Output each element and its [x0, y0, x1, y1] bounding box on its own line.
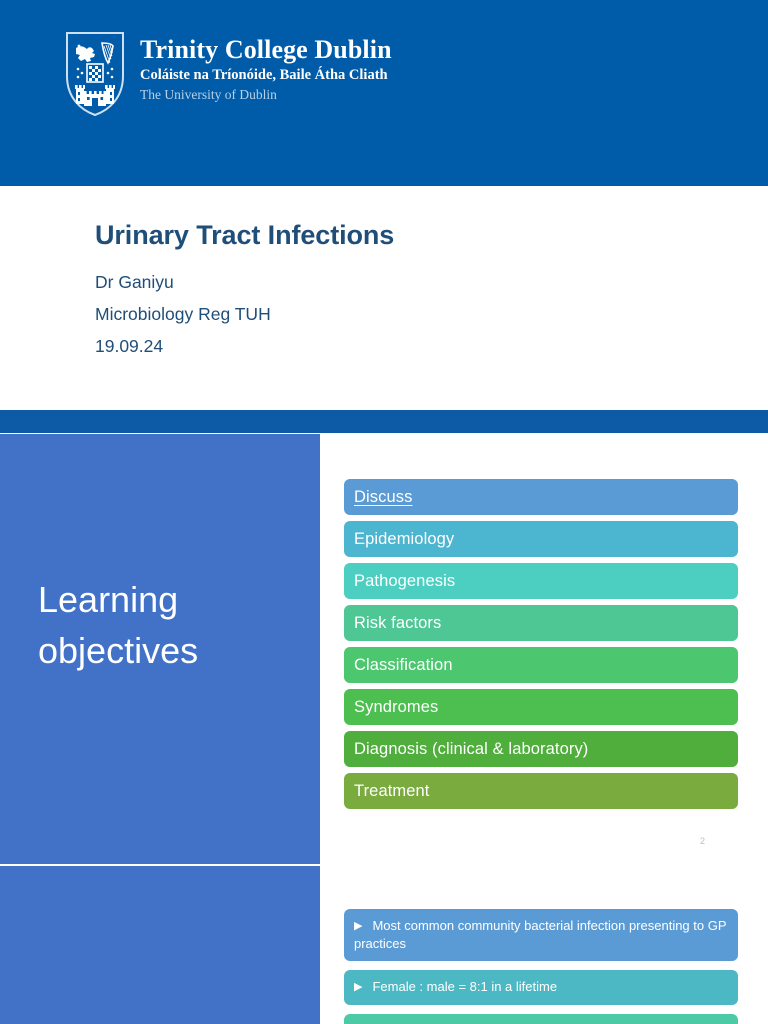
epidemiology-fact[interactable]: ▶Female : male = 8:1 in a lifetime — [344, 970, 738, 1005]
objective-bar[interactable]: Risk factors — [344, 605, 738, 641]
epidemiology-left-panel — [0, 866, 320, 1024]
objective-bar[interactable]: Epidemiology — [344, 521, 738, 557]
objective-bar[interactable]: Treatment — [344, 773, 738, 809]
trinity-college-crest-icon — [64, 30, 126, 118]
trinity-logo-text: Trinity College Dublin Coláiste na Tríon… — [140, 30, 392, 104]
objective-bar[interactable]: Diagnosis (clinical & laboratory) — [344, 731, 738, 767]
epidemiology-fact[interactable]: ▶Approx 50-60% of women report at least … — [344, 1014, 738, 1024]
org-tagline: The University of Dublin — [140, 87, 392, 104]
objective-bar-label: Epidemiology — [354, 530, 454, 549]
slide-divider-strip — [0, 410, 768, 433]
objectives-heading-line1: Learning — [38, 574, 198, 625]
brand-header-band: Trinity College Dublin Coláiste na Tríon… — [0, 0, 768, 186]
org-name-irish: Coláiste na Tríonóide, Baile Átha Cliath — [140, 66, 392, 84]
presenter-name: Dr Ganiyu — [95, 266, 271, 298]
presentation-date: 19.09.24 — [95, 330, 271, 362]
objective-bar[interactable]: Discuss — [344, 479, 738, 515]
slide-page: Trinity College Dublin Coláiste na Tríon… — [0, 0, 768, 1024]
presenter-affiliation: Microbiology Reg TUH — [95, 298, 271, 330]
title-slide-meta: Dr Ganiyu Microbiology Reg TUH 19.09.24 — [95, 266, 271, 362]
objectives-bar-list: DiscussEpidemiologyPathogenesisRisk fact… — [344, 479, 738, 815]
epidemiology-fact[interactable]: ▶Most common community bacterial infecti… — [344, 909, 738, 961]
slide-number: 2 — [700, 836, 705, 846]
page-title: Urinary Tract Infections — [95, 220, 394, 251]
epidemiology-fact-list: ▶Most common community bacterial infecti… — [344, 909, 738, 1024]
objective-bar-label: Treatment — [354, 782, 429, 801]
objectives-left-panel: Learning objectives — [0, 434, 320, 864]
objectives-heading: Learning objectives — [38, 574, 198, 676]
objective-bar-label: Diagnosis (clinical & laboratory) — [354, 740, 588, 759]
triangle-bullet-icon: ▶ — [354, 981, 362, 993]
org-name: Trinity College Dublin — [140, 36, 392, 63]
objective-bar-label: Pathogenesis — [354, 572, 455, 591]
trinity-logo: Trinity College Dublin Coláiste na Tríon… — [64, 30, 392, 118]
objective-bar[interactable]: Syndromes — [344, 689, 738, 725]
objective-bar-label: Syndromes — [354, 698, 438, 717]
objectives-heading-line2: objectives — [38, 625, 198, 676]
objective-bar[interactable]: Classification — [344, 647, 738, 683]
objective-bar-label: Classification — [354, 656, 453, 675]
objective-bar-label: Risk factors — [354, 614, 441, 633]
objective-bar-label: Discuss — [354, 488, 412, 507]
epidemiology-fact-text: Most common community bacterial infectio… — [354, 918, 726, 951]
epidemiology-fact-text: Female : male = 8:1 in a lifetime — [372, 979, 557, 994]
objective-bar[interactable]: Pathogenesis — [344, 563, 738, 599]
triangle-bullet-icon: ▶ — [354, 920, 362, 932]
title-slide-body: Urinary Tract Infections Dr Ganiyu Micro… — [0, 186, 768, 410]
